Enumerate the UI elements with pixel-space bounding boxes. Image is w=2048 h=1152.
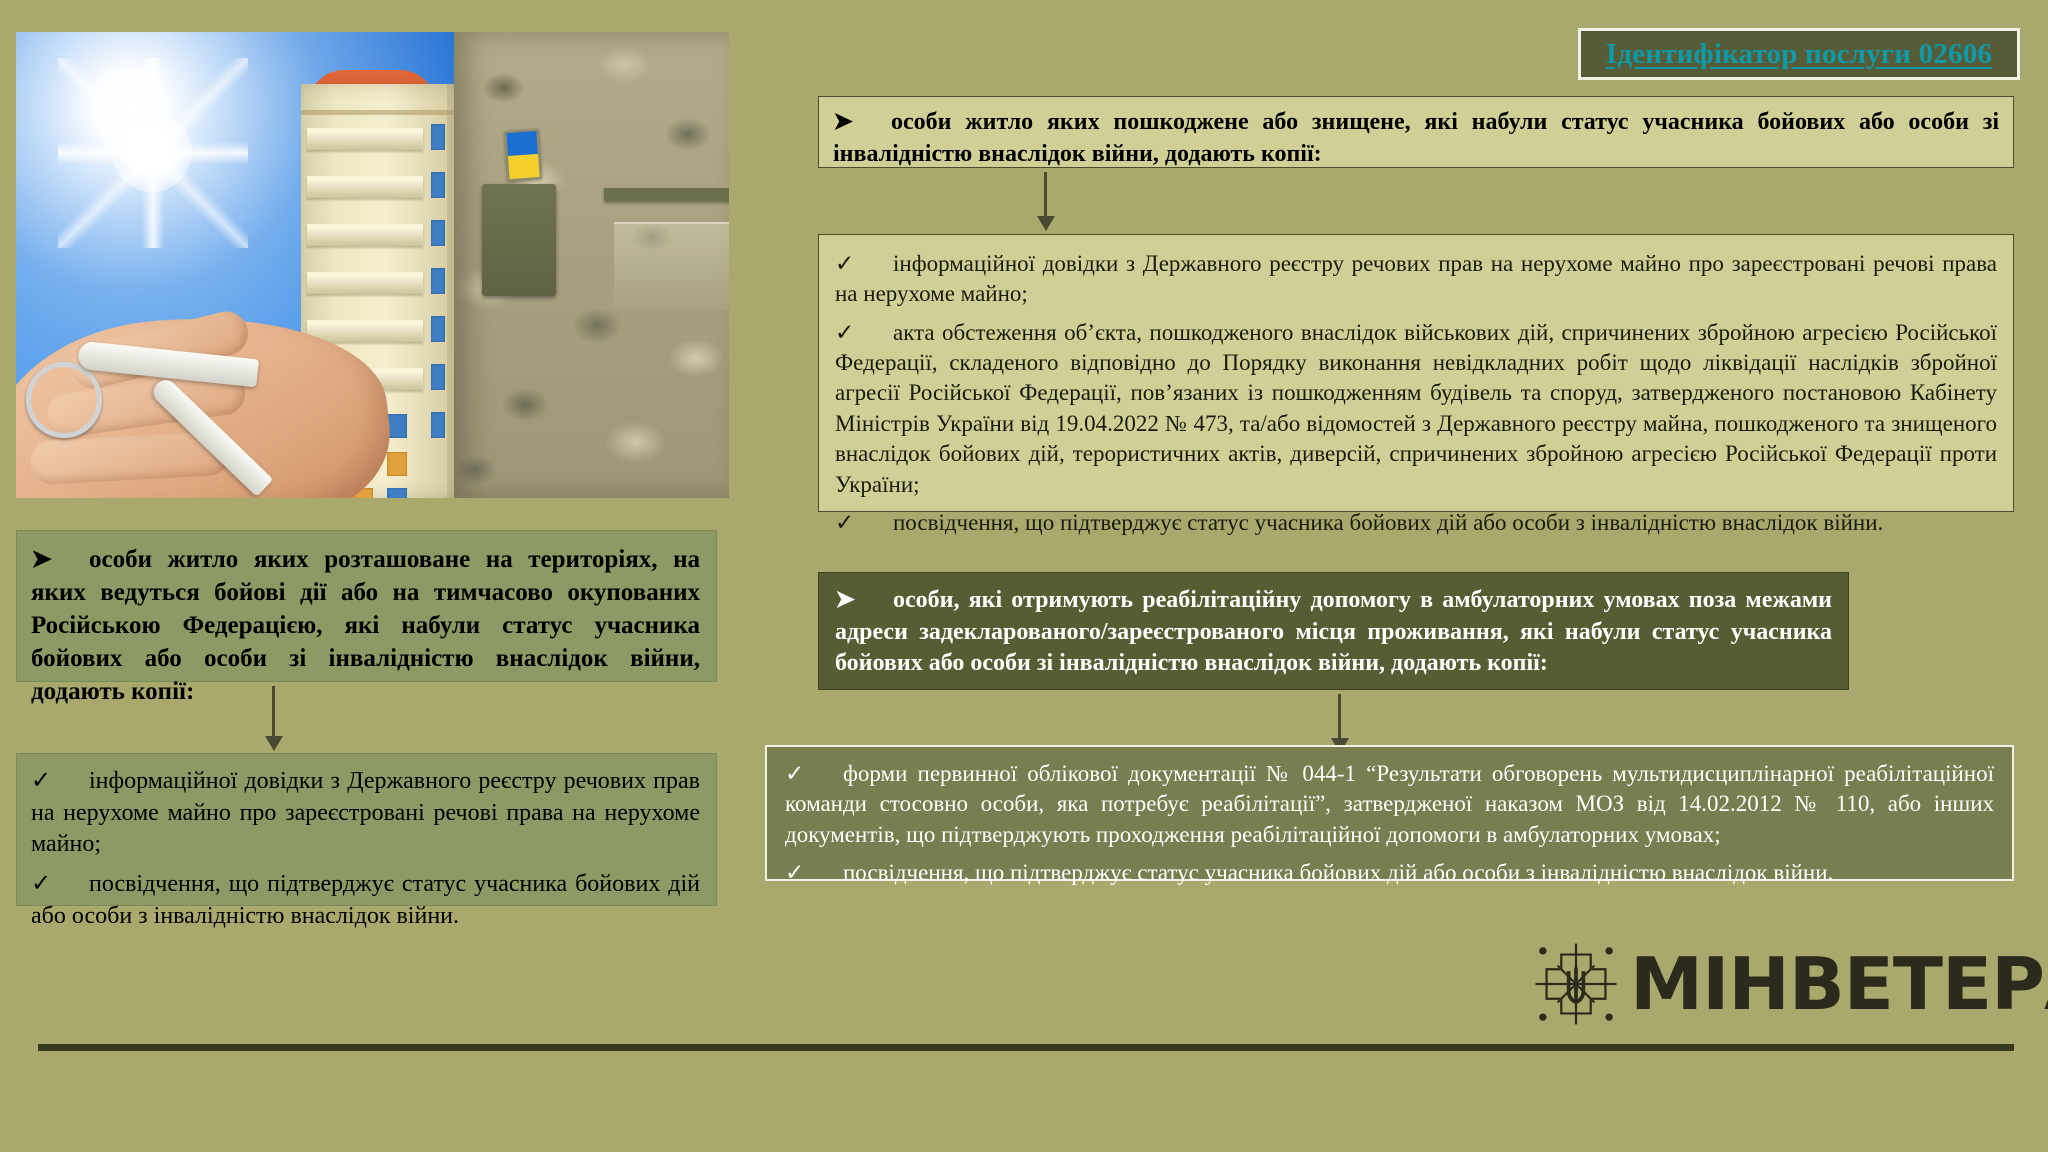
- left-header-item: ➤особи житло яких розташоване на територ…: [31, 543, 700, 708]
- sleeve-pocket: [482, 184, 556, 296]
- right-group-two-text-2: посвідчення, що підтверджує статус учасн…: [843, 860, 1833, 885]
- left-body-text-2: посвідчення, що підтверджує статус учасн…: [31, 871, 700, 929]
- check-bullet-icon: ✓: [835, 249, 893, 279]
- right-group-one-header-item: ➤особи житло яких пошкоджене або знищене…: [833, 107, 1999, 170]
- left-body-box: ✓інформаційної довідки з Державного реєс…: [16, 753, 717, 906]
- ukrainian-flag-patch: [504, 129, 541, 181]
- right-group-one-header-box: ➤особи житло яких пошкоджене або знищене…: [818, 96, 2014, 168]
- camouflage-sleeve: [454, 32, 729, 498]
- right-group-one-text-3: посвідчення, що підтверджує статус учасн…: [893, 510, 1883, 535]
- sleeve-strap: [604, 188, 729, 201]
- footer-divider: [38, 1044, 2014, 1051]
- sun-core-icon: [112, 112, 192, 192]
- check-bullet-icon: ✓: [835, 508, 893, 538]
- service-identifier-badge[interactable]: Ідентифікатор послуги 02606: [1578, 28, 2020, 80]
- connector-arrow-right-two: [1338, 694, 1341, 740]
- sleeve-lower-pocket: [614, 222, 729, 310]
- slide-canvas: Ідентифікатор послуги 02606: [0, 0, 2048, 1152]
- connector-arrow-right-one: [1044, 172, 1047, 218]
- check-bullet-icon: ✓: [785, 759, 843, 789]
- left-header-box: ➤особи житло яких розташоване на територ…: [16, 530, 717, 682]
- service-identifier-label: Ідентифікатор послуги 02606: [1606, 38, 1992, 71]
- right-group-one-text-1: інформаційної довідки з Державного реєст…: [835, 251, 1997, 306]
- left-body-text-1: інформаційної довідки з Державного реєст…: [31, 768, 700, 857]
- ministry-logo-text: МІНВЕТЕРАНІВ: [1630, 948, 2048, 1020]
- check-bullet-icon: ✓: [785, 858, 843, 888]
- right-group-two-header-text: особи, які отримують реабілітаційну допо…: [835, 587, 1832, 676]
- key-ring-icon: [26, 362, 102, 438]
- check-bullet-icon: ✓: [31, 869, 89, 901]
- connector-arrow-left: [272, 686, 275, 738]
- list-item: ✓посвідчення, що підтверджує статус учас…: [835, 508, 1997, 538]
- right-group-one-body-box: ✓інформаційної довідки з Державного реєс…: [818, 234, 2014, 512]
- right-group-two-header-box: ➤особи, які отримують реабілітаційну доп…: [818, 572, 1849, 690]
- list-item: ✓посвідчення, що підтверджує статус учас…: [31, 869, 700, 932]
- right-group-two-text-1: форми первинної облікової документації №…: [785, 761, 1994, 847]
- right-group-one-header-text: особи житло яких пошкоджене або знищене,…: [833, 109, 1999, 167]
- list-item: ✓посвідчення, що підтверджує статус учас…: [785, 858, 1994, 888]
- arrow-bullet-icon: ➤: [835, 585, 893, 617]
- right-group-two-body-box: ✓форми первинної облікової документації …: [765, 745, 2014, 881]
- arrow-bullet-icon: ➤: [31, 543, 89, 576]
- check-bullet-icon: ✓: [835, 318, 893, 348]
- ministry-emblem-icon: [1530, 938, 1622, 1030]
- left-header-text: особи житло яких розташоване на територі…: [31, 546, 700, 705]
- check-bullet-icon: ✓: [31, 766, 89, 798]
- list-item: ✓акта обстеження об’єкта, пошкодженого в…: [835, 318, 1997, 500]
- hero-photo: [16, 32, 729, 498]
- list-item: ✓інформаційної довідки з Державного реєс…: [835, 249, 1997, 310]
- ministry-logo: МІНВЕТЕРАНІВ: [1530, 938, 2048, 1030]
- arrow-bullet-icon: ➤: [833, 107, 891, 139]
- list-item: ✓інформаційної довідки з Державного реєс…: [31, 766, 700, 861]
- right-group-two-header-item: ➤особи, які отримують реабілітаційну доп…: [835, 585, 1832, 680]
- right-group-one-text-2: акта обстеження об’єкта, пошкодженого вн…: [835, 320, 1997, 497]
- list-item: ✓форми первинної облікової документації …: [785, 759, 1994, 850]
